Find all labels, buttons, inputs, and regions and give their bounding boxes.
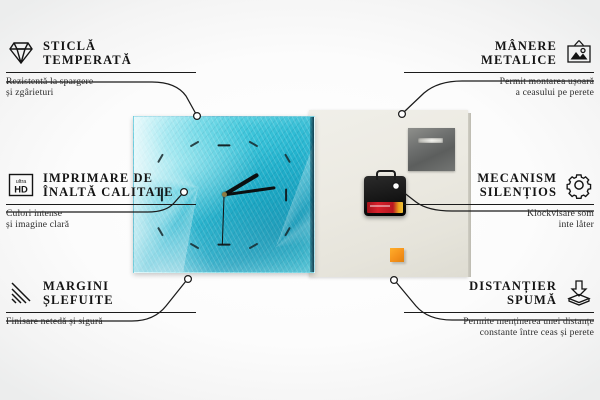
feature-edges-head: MARGINIȘLEFUITE xyxy=(6,276,196,310)
arrow-down-onto-pad-icon xyxy=(564,278,594,308)
feature-edges-subtitle: Finisare netedă și sigură xyxy=(6,316,196,327)
mechanism-hook xyxy=(376,170,396,180)
dial-tick xyxy=(284,153,291,163)
diamond-gem-icon xyxy=(6,38,36,68)
dial-tick xyxy=(284,226,291,236)
dial-tick xyxy=(218,243,231,245)
foam-spacer-pad xyxy=(390,248,404,262)
ultra-hd-badge-icon: ultra HD xyxy=(6,170,36,200)
dial-tick xyxy=(249,140,259,147)
feature-glass-rule xyxy=(6,72,196,73)
feature-glass-title: STICLĂTEMPERATĂ xyxy=(43,39,132,67)
dial-tick xyxy=(249,242,259,249)
second-hand xyxy=(222,194,225,244)
feature-mechanism-title: MECANISMSILENȚIOS xyxy=(477,171,557,199)
feature-glass-subtitle: Rezistentă la spargereși zgârieturi xyxy=(6,76,196,99)
infographic-canvas: STICLĂTEMPERATĂ Rezistentă la spargereși… xyxy=(0,0,600,400)
battery xyxy=(367,202,403,213)
feature-print-subtitle: Culori intenseși imagine clară xyxy=(6,208,196,231)
feature-handles-subtitle: Permit montarea ușoarăa ceasului pe pere… xyxy=(404,76,594,99)
hanger-slot xyxy=(418,138,443,143)
feature-handles-rule xyxy=(404,72,594,73)
feature-edges-rule xyxy=(6,312,196,313)
feature-print: ultra HD IMPRIMARE DEÎNALTĂ CALITATE Cul… xyxy=(6,168,196,231)
feature-spacer-rule xyxy=(404,312,594,313)
metal-hanger-plate xyxy=(408,128,455,171)
feature-spacer-subtitle: Permite menținerea unei distanțeconstant… xyxy=(404,316,594,339)
feature-glass: STICLĂTEMPERATĂ Rezistentă la spargereși… xyxy=(6,36,196,99)
feature-handles-title: MÂNEREMETALICE xyxy=(481,39,557,67)
feature-glass-head: STICLĂTEMPERATĂ xyxy=(6,36,196,70)
feature-edges: MARGINIȘLEFUITE Finisare netedă și sigur… xyxy=(6,276,196,327)
feature-spacer-title: DISTANȚIERSPUMĂ xyxy=(469,279,557,307)
feature-mechanism-subtitle: Klockvisare sominte låter xyxy=(404,208,594,231)
svg-text:HD: HD xyxy=(14,184,28,195)
feature-handles-head: MÂNEREMETALICE xyxy=(404,36,594,70)
feature-mechanism-head: MECANISMSILENȚIOS xyxy=(404,168,594,202)
dial-tick xyxy=(157,153,164,163)
feature-print-rule xyxy=(6,204,196,205)
polished-edge-hatch-icon xyxy=(6,278,36,308)
gear-icon xyxy=(564,170,594,200)
hanging-picture-frame-icon xyxy=(564,38,594,68)
quartz-clock-mechanism xyxy=(364,176,406,216)
dial-tick xyxy=(190,140,200,147)
dial-tick xyxy=(285,188,287,201)
feature-handles: MÂNEREMETALICE Permit montarea ușoarăa c… xyxy=(404,36,594,99)
feature-edges-title: MARGINIȘLEFUITE xyxy=(43,279,114,307)
feature-print-head: ultra HD IMPRIMARE DEÎNALTĂ CALITATE xyxy=(6,168,196,202)
feature-spacer: DISTANȚIERSPUMĂ Permite menținerea unei … xyxy=(404,276,594,339)
feature-mechanism-rule xyxy=(404,204,594,205)
dial-tick xyxy=(190,242,200,249)
dial-tick xyxy=(218,144,231,146)
feature-spacer-head: DISTANȚIERSPUMĂ xyxy=(404,276,594,310)
feature-mechanism: MECANISMSILENȚIOS Klockvisare sominte lå… xyxy=(404,168,594,231)
hand-center-cap xyxy=(222,192,227,197)
feature-print-title: IMPRIMARE DEÎNALTĂ CALITATE xyxy=(43,171,174,199)
